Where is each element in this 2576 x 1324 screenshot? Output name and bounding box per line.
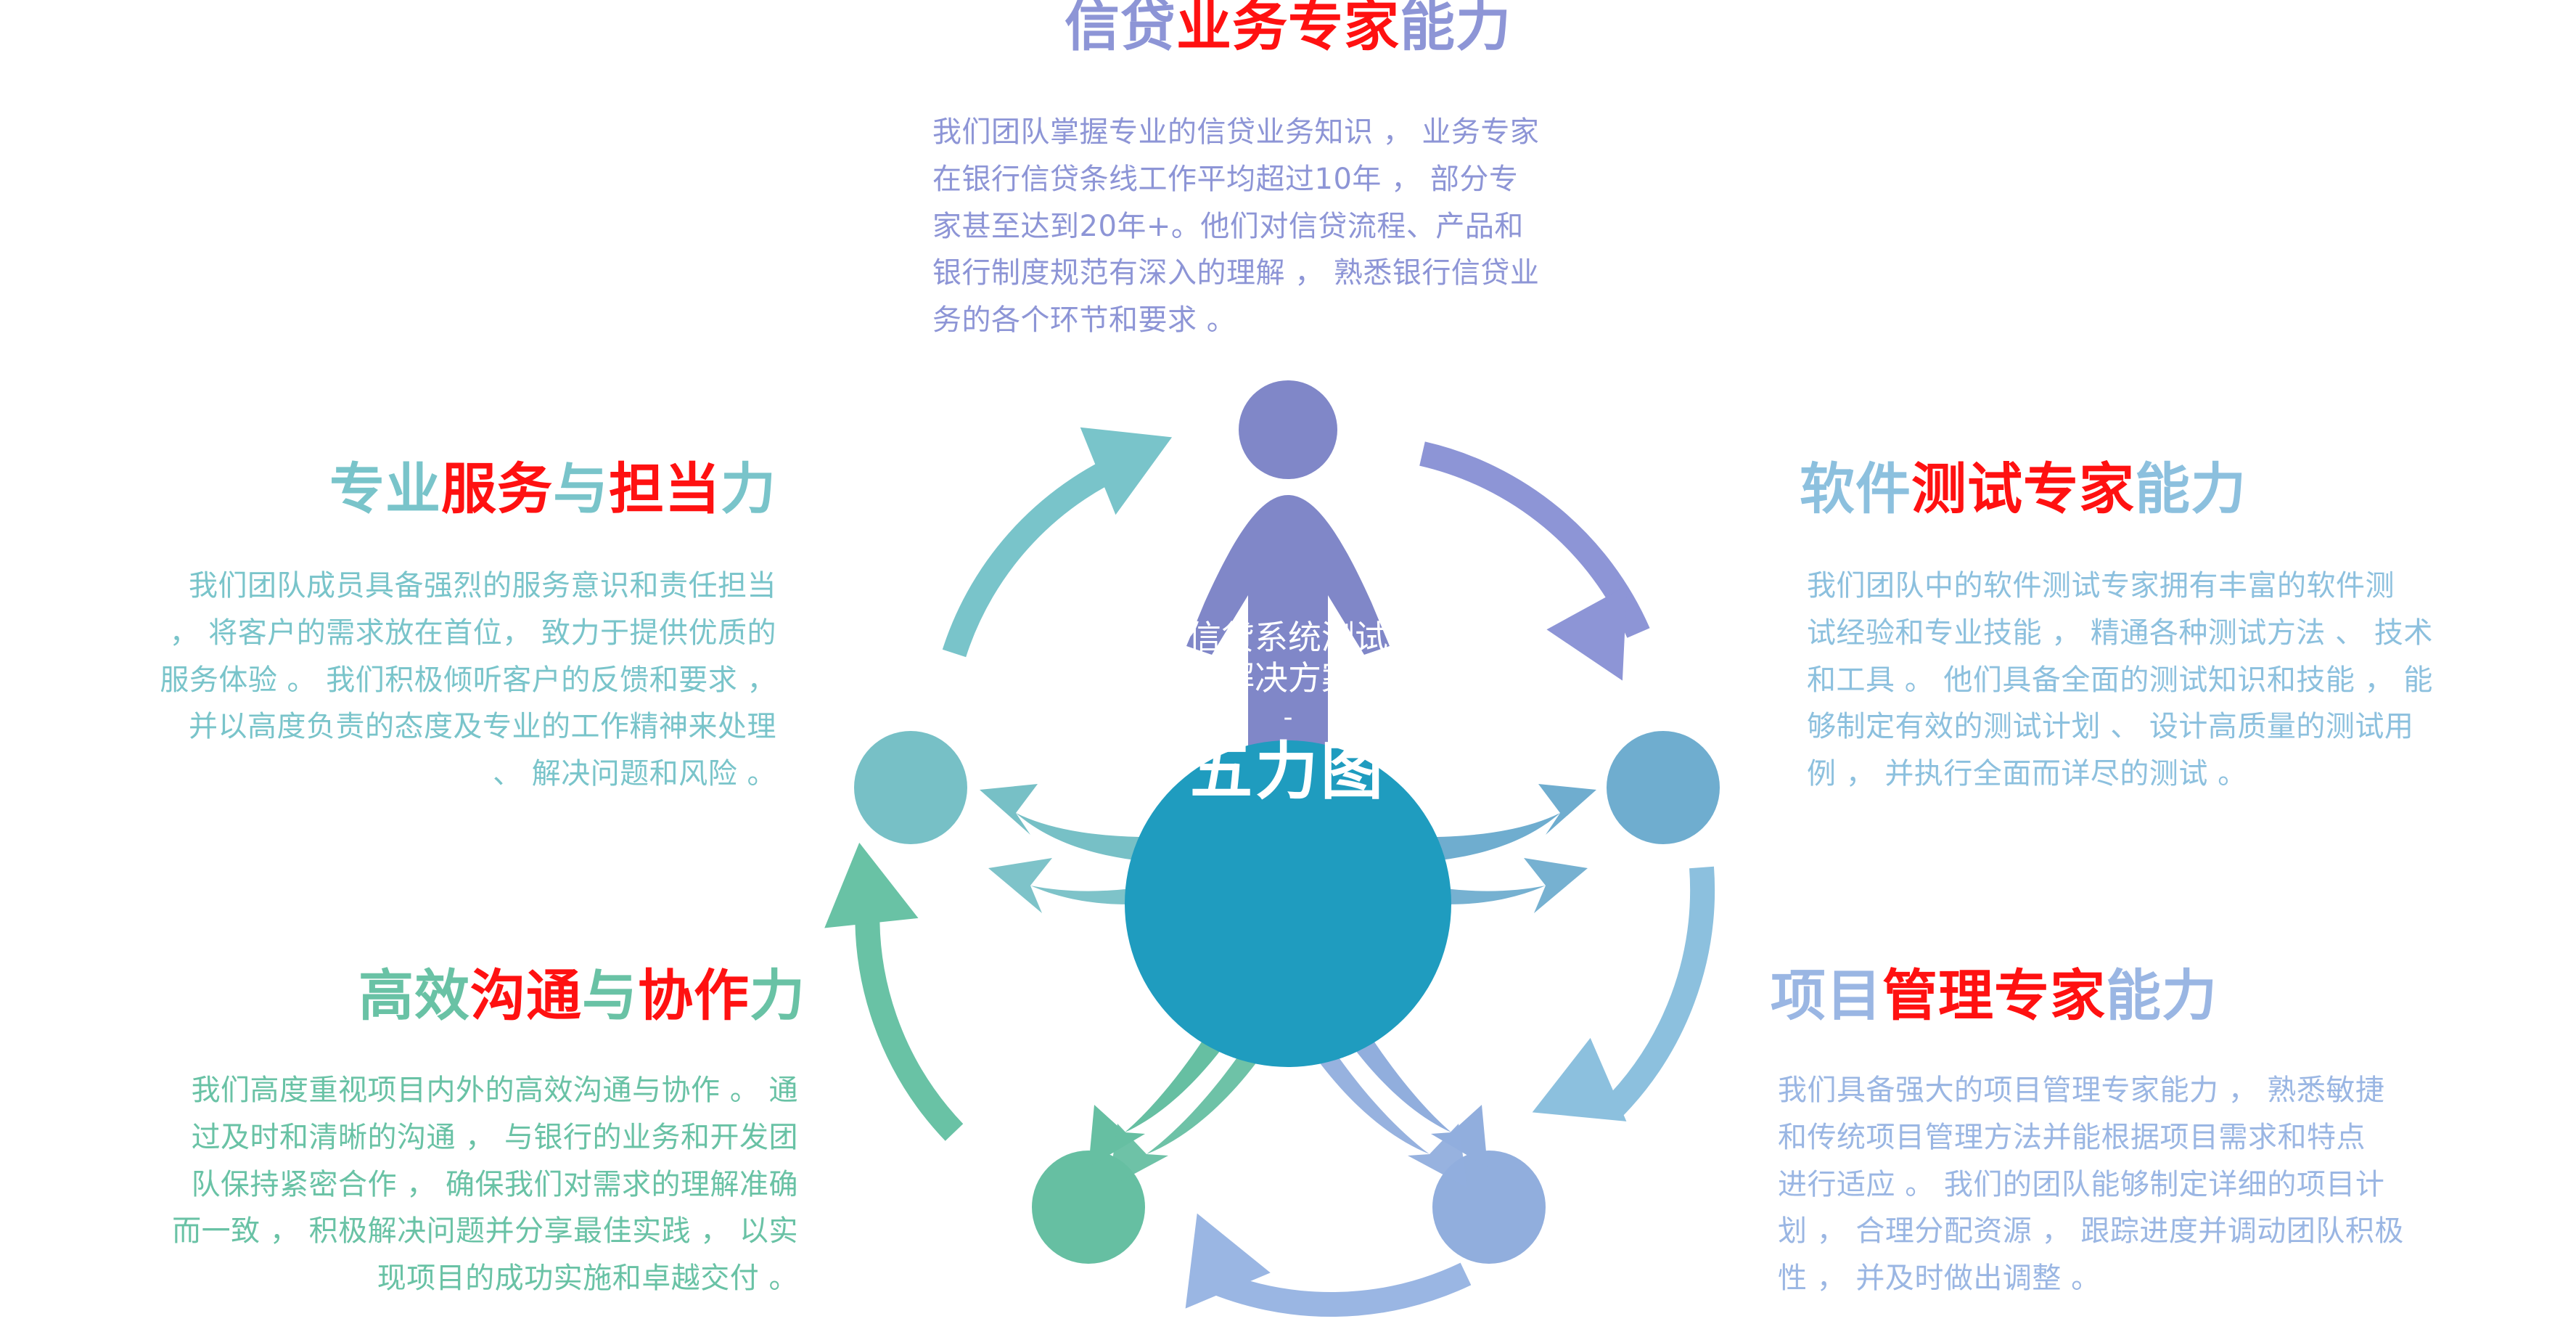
section-heading-bottom-right: 项目管理专家能力	[1771, 967, 2576, 1025]
heading-run-2: 与	[582, 963, 638, 1028]
heading-run-2: 能力	[1400, 0, 1511, 58]
body-line-4: 、 解决问题和风险 。	[7, 751, 776, 798]
infographic-canvas: 信贷业务专家能力 我们团队掌握专业的信贷业务知识 ， 业务专家在银行信贷条线工作…	[0, 0, 2576, 1324]
body-line-4: 例 ， 并执行全面而详尽的测试 。	[1807, 751, 2572, 798]
body-line-0: 我们团队中的软件测试专家拥有丰富的软件测	[1807, 563, 2572, 610]
body-line-4: 性 ， 并及时做出调整 。	[1778, 1255, 2569, 1302]
section-body-bottom-left: 我们高度重视项目内外的高效沟通与协作 。 通过及时和清晰的沟通 ， 与银行的业务…	[15, 1067, 798, 1302]
body-line-2: 家甚至达到20年+。他们对信贷流程、产品和	[932, 203, 1702, 250]
heading-run-4: 力	[750, 963, 805, 1028]
heading-run-3: 协作	[638, 963, 750, 1028]
body-line-1: 在银行信贷条线工作平均超过10年 ， 部分专	[932, 156, 1702, 203]
heading-run-0: 项目	[1771, 963, 1882, 1028]
body-line-3: 银行制度规范有深入的理解 ， 熟悉银行信贷业	[932, 250, 1702, 297]
section-heading-right: 软件测试专家能力	[1800, 460, 2576, 518]
heading-run-1: 业务专家	[1176, 0, 1400, 58]
heading-run-0: 高效	[358, 963, 470, 1028]
heading-run-3: 担当	[609, 457, 721, 521]
heading-run-4: 力	[721, 457, 776, 521]
body-line-4: 务的各个环节和要求 。	[932, 297, 1702, 344]
body-line-2: 队保持紧密合作 ， 确保我们对需求的理解准确	[15, 1161, 798, 1209]
body-line-0: 我们团队掌握专业的信贷业务知识 ， 业务专家	[932, 109, 1702, 156]
arc-bottom-right-to-bottom-left	[1146, 1214, 1466, 1321]
body-line-1: 试经验和专业技能 ， 精通各种测试方法 、 技术	[1807, 610, 2572, 657]
body-line-3: 够制定有效的测试计划 、 设计高质量的测试用	[1807, 703, 2572, 751]
body-line-1: ， 将客户的需求放在首位， 致力于提供优质的	[7, 610, 776, 657]
body-line-1: 和传统项目管理方法并能根据项目需求和特点	[1778, 1114, 2569, 1161]
heading-run-2: 能力	[2106, 963, 2218, 1028]
body-line-0: 我们团队成员具备强烈的服务意识和责任担当	[7, 563, 776, 610]
body-line-2: 进行适应 。 我们的团队能够制定详细的项目计	[1778, 1161, 2569, 1209]
center-circle	[1125, 740, 1451, 1067]
arc-bottom-left-to-left	[816, 838, 954, 1132]
arc-right-to-bottom-right	[1533, 867, 1702, 1161]
body-line-4: 现项目的成功实施和卓越交付 。	[15, 1255, 798, 1302]
body-line-2: 服务体验 。 我们积极倾听客户的反馈和要求 ，	[7, 657, 776, 704]
section-heading-bottom-left: 高效沟通与协作力	[0, 967, 805, 1025]
heading-run-1: 管理专家	[1882, 963, 2106, 1028]
section-body-left: 我们团队成员具备强烈的服务意识和责任担当， 将客户的需求放在首位， 致力于提供优…	[7, 563, 776, 798]
heading-run-0: 专业	[329, 457, 441, 521]
section-body-right: 我们团队中的软件测试专家拥有丰富的软件测试经验和专业技能 ， 精通各种测试方法 …	[1807, 563, 2572, 798]
body-line-0: 我们具备强大的项目管理专家能力 ， 熟悉敏捷	[1778, 1067, 2569, 1114]
body-line-0: 我们高度重视项目内外的高效沟通与协作 。 通	[15, 1067, 798, 1114]
body-line-3: 而一致 ， 积极解决问题并分享最佳实践 ， 以实	[15, 1208, 798, 1255]
body-line-2: 和工具 。 他们具备全面的测试知识和技能 ， 能	[1807, 657, 2572, 704]
section-body-bottom-right: 我们具备强大的项目管理专家能力 ， 熟悉敏捷和传统项目管理方法并能根据项目需求和…	[1778, 1067, 2569, 1302]
heading-run-1: 服务	[441, 457, 553, 521]
node-circle-right	[1607, 731, 1720, 844]
section-body-top: 我们团队掌握专业的信贷业务知识 ， 业务专家在银行信贷条线工作平均超过10年 ，…	[932, 109, 1702, 344]
heading-run-0: 软件	[1800, 457, 1911, 521]
section-heading-top: 信贷业务专家能力	[0, 0, 2576, 55]
five-force-diagram: 信贷系统测试 解决方案 - 五力图	[798, 377, 1778, 1321]
arc-top-to-right	[1422, 454, 1668, 681]
heading-run-0: 信贷	[1065, 0, 1176, 58]
body-line-3: 划 ， 合理分配资源 ， 跟踪进度并调动团队积极	[1778, 1208, 2569, 1255]
arc-left-to-top	[954, 397, 1191, 653]
heading-run-1: 测试专家	[1911, 457, 2135, 521]
body-line-3: 并以高度负责的态度及专业的工作精神来处理	[7, 703, 776, 751]
body-line-1: 过及时和清晰的沟通 ， 与银行的业务和开发团	[15, 1114, 798, 1161]
heading-run-1: 沟通	[470, 963, 582, 1028]
heading-run-2: 与	[553, 457, 609, 521]
heading-run-2: 能力	[2135, 457, 2247, 521]
section-heading-left: 专业服务与担当力	[0, 460, 776, 518]
node-circle-left	[854, 731, 967, 844]
